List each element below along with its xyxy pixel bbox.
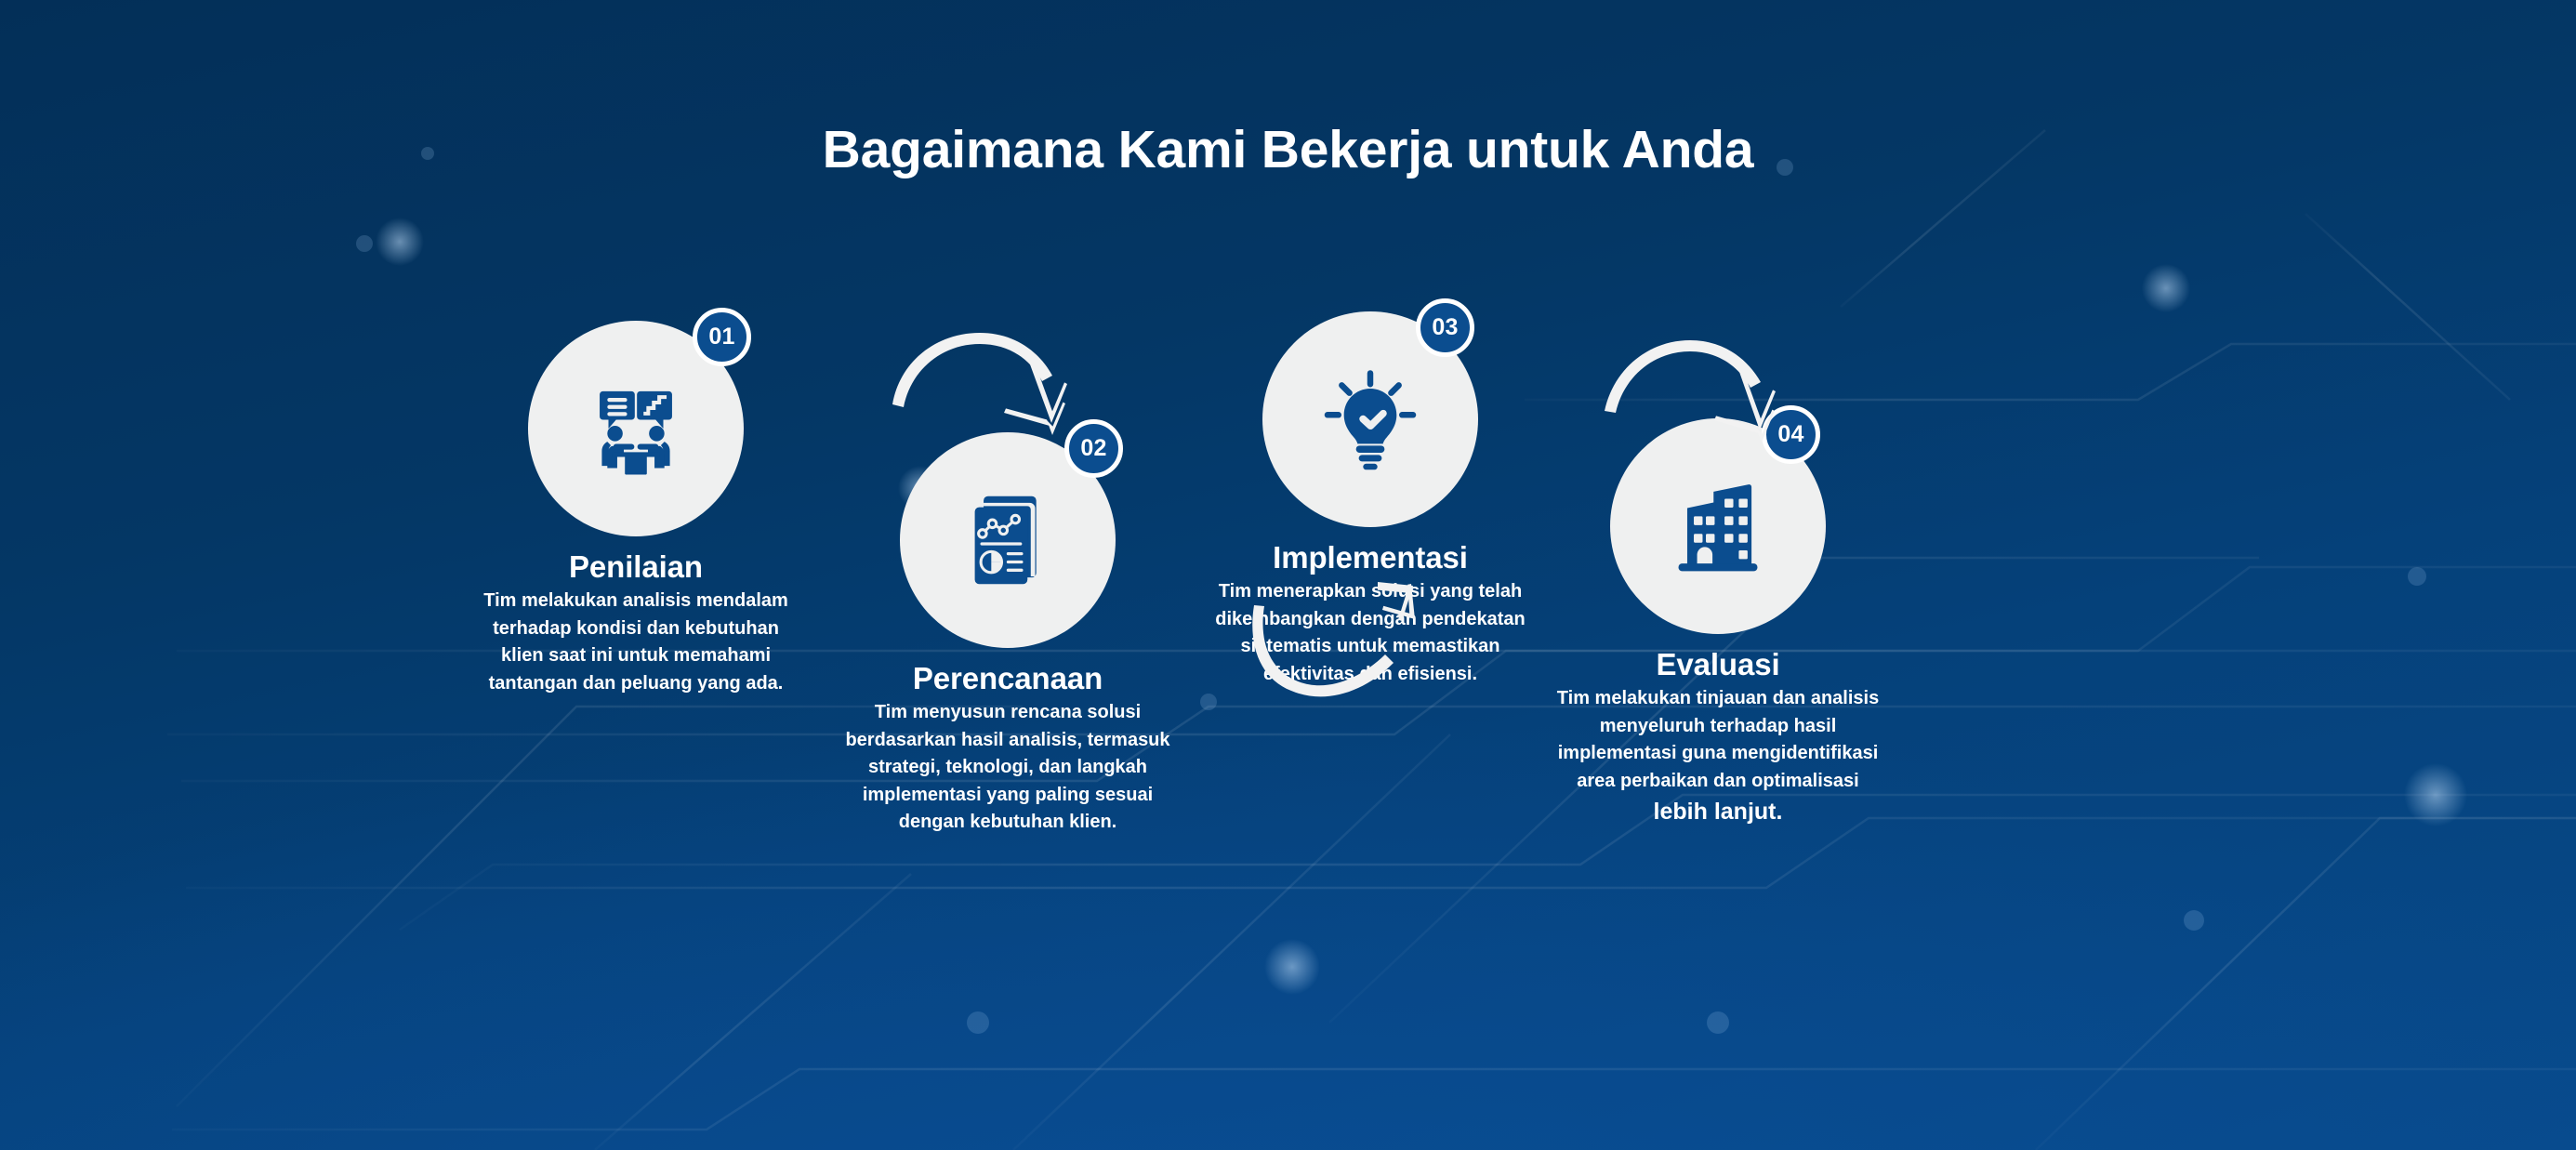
lightbulb-check-icon: [1315, 364, 1425, 474]
step-card-evaluasi[interactable]: 04 Evaluasi Tim melakukan tinjauan dan a…: [1536, 418, 1900, 829]
step-number-badge: 02: [1064, 419, 1123, 478]
step-description: Tim melakukan analisis mendalam terhadap…: [454, 588, 818, 697]
step-description: Tim melakukan tinjauan dan analisis meny…: [1536, 685, 1900, 829]
step-number-badge: 04: [1762, 405, 1820, 464]
report-analytics-icon: [953, 485, 1063, 595]
step-card-penilaian[interactable]: 01 Penilaian Tim melakukan analisis mend…: [454, 321, 818, 697]
step-icon-container: 01: [528, 321, 744, 536]
step-icon-container: 02: [900, 432, 1116, 648]
office-building-icon: [1663, 471, 1773, 581]
step-icon-container: 03: [1262, 311, 1478, 527]
page-title: Bagaimana Kami Bekerja untuk Anda: [0, 119, 2576, 180]
step-description: Tim menerapkan solusi yang telah dikemba…: [1188, 578, 1552, 688]
step-title: Implementasi: [1188, 540, 1552, 576]
step-title: Penilaian: [454, 549, 818, 586]
step-title: Perencanaan: [826, 661, 1190, 697]
arrow-step1-to-step2: [865, 316, 1106, 446]
infographic-stage: Bagaimana Kami Bekerja untuk Anda: [0, 0, 2576, 1150]
step-card-perencanaan[interactable]: 02 Perencanaan Tim menyusun rencana solu…: [826, 432, 1190, 837]
step-description: Tim menyusun rencana solusi berdasarkan …: [826, 699, 1190, 837]
step-card-implementasi[interactable]: 03 Implementasi Tim menerapkan solusi ya…: [1188, 311, 1552, 688]
step-title: Evaluasi: [1536, 647, 1900, 683]
step-number-badge: 01: [693, 308, 751, 366]
step-number-badge: 03: [1416, 298, 1474, 357]
step-description-main: Tim melakukan tinjauan dan analisis meny…: [1557, 688, 1879, 791]
step-description-emphasis: lebih lanjut.: [1654, 799, 1783, 825]
meeting-discussion-icon: [581, 374, 691, 483]
step-icon-container: 04: [1610, 418, 1826, 634]
